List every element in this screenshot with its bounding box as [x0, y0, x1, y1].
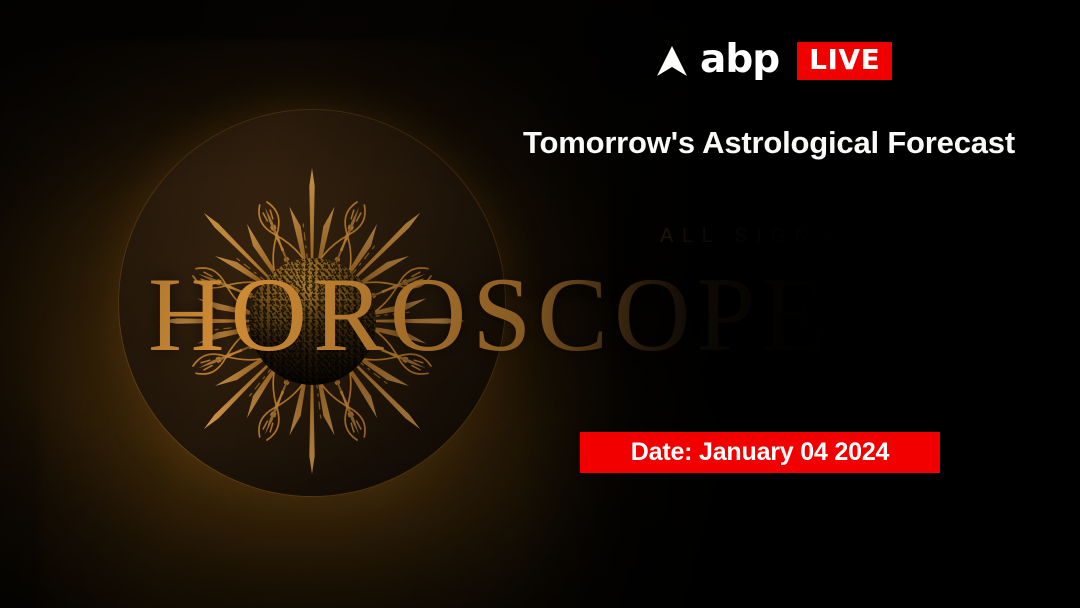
- abp-live-logo[interactable]: abp LIVE: [653, 42, 892, 80]
- abp-arrow-icon: [653, 42, 691, 80]
- horoscope-poster: HOROSCOPE ALL SIGNS abp LIVE Tomorrow's …: [0, 0, 1080, 608]
- date-badge: Date: January 04 2024: [580, 432, 940, 473]
- vignette: [0, 0, 1080, 608]
- abp-wordmark: abp: [700, 40, 779, 79]
- page-title: Tomorrow's Astrological Forecast: [489, 125, 1049, 161]
- live-badge: LIVE: [797, 42, 892, 80]
